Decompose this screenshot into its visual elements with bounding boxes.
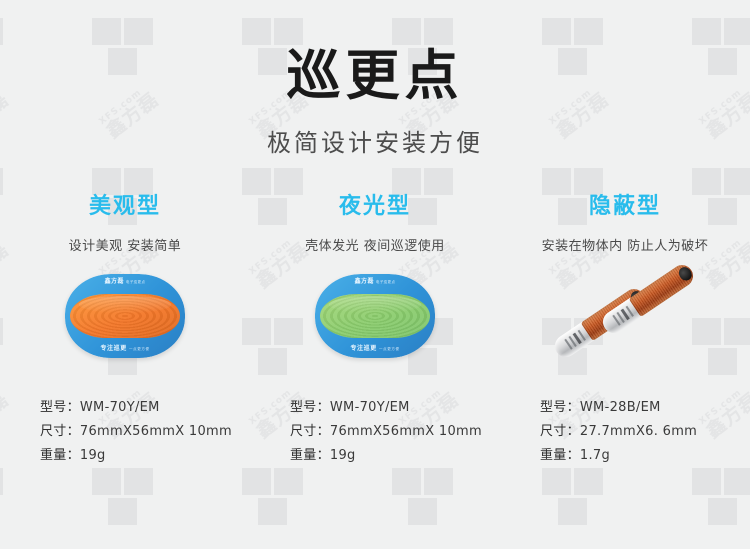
- spec-value: WM-70Y/EM: [80, 400, 160, 415]
- device-brand-sub: 电子巡更点: [126, 280, 146, 284]
- spec-label: 尺寸：: [40, 424, 80, 439]
- spec-label: 重量：: [40, 448, 80, 463]
- spec-label: 尺寸：: [290, 424, 330, 439]
- page-title: 巡更点: [0, 48, 750, 105]
- spec-label: 型号：: [290, 400, 330, 415]
- device-brand-sub: 电子巡更点: [376, 280, 396, 284]
- device-face: [70, 294, 180, 338]
- glass-transponder-tag: [599, 260, 698, 336]
- page-subtitle: 极简设计安装方便: [0, 123, 750, 158]
- device-foot-sub: 一点更方便: [379, 347, 400, 351]
- spec-size: 尺寸：76mmX56mmX 10mm: [40, 420, 250, 444]
- product-columns: 美观型 设计美观 安装简单 鑫方磊 电子巡更点 专注巡更 一点更方便: [0, 196, 750, 468]
- oval-patrol-point: 鑫方磊 电子巡更点 专注巡更 一点更方便: [315, 274, 435, 358]
- device-brand-main: 鑫方磊: [355, 278, 374, 285]
- product-column-concealed: 隐蔽型 安装在物体内 防止人为破坏: [500, 196, 750, 468]
- device-foot-main: 专注巡更: [350, 345, 376, 352]
- spec-size: 尺寸：27.7mmX6. 6mm: [540, 420, 750, 444]
- device-foot-main: 专注巡更: [100, 345, 126, 352]
- device-body: 鑫方磊 电子巡更点 专注巡更 一点更方便: [65, 274, 185, 358]
- spec-value: 27.7mmX6. 6mm: [580, 424, 697, 439]
- column-title: 夜光型: [250, 196, 500, 218]
- column-title: 隐蔽型: [500, 196, 750, 218]
- column-tagline: 安装在物体内 防止人为破坏: [500, 235, 750, 254]
- spec-value: WM-28B/EM: [580, 400, 661, 415]
- device-foot-label: 专注巡更 一点更方便: [315, 344, 435, 354]
- spec-list: 型号：WM-28B/EM 尺寸：27.7mmX6. 6mm 重量：1.7g: [500, 396, 750, 468]
- spec-value: WM-70Y/EM: [330, 400, 410, 415]
- device-face: [320, 294, 430, 338]
- device-brand-main: 鑫方磊: [105, 278, 124, 285]
- spec-value: 19g: [330, 448, 356, 463]
- spec-label: 尺寸：: [540, 424, 580, 439]
- spec-label: 重量：: [540, 448, 580, 463]
- spec-label: 型号：: [40, 400, 80, 415]
- spec-weight: 重量：19g: [290, 444, 500, 468]
- spec-label: 型号：: [540, 400, 580, 415]
- device-foot-sub: 一点更方便: [129, 347, 150, 351]
- product-image-luminous: 鑫方磊 电子巡更点 专注巡更 一点更方便: [250, 266, 500, 378]
- page-header: 巡更点 极简设计安装方便: [0, 0, 750, 158]
- column-title: 美观型: [0, 196, 250, 218]
- oval-patrol-point: 鑫方磊 电子巡更点 专注巡更 一点更方便: [65, 274, 185, 358]
- product-column-luminous: 夜光型 壳体发光 夜间巡逻使用 鑫方磊 电子巡更点 专注巡更 一点更方便: [250, 196, 500, 468]
- spec-model: 型号：WM-28B/EM: [540, 396, 750, 420]
- spec-size: 尺寸：76mmX56mmX 10mm: [290, 420, 500, 444]
- spec-list: 型号：WM-70Y/EM 尺寸：76mmX56mmX 10mm 重量：19g: [0, 396, 250, 468]
- spec-model: 型号：WM-70Y/EM: [40, 396, 250, 420]
- device-brand-label: 鑫方磊 电子巡更点: [65, 278, 185, 287]
- product-page: 巡更点 极简设计安装方便 美观型 设计美观 安装简单 鑫方磊 电子巡更点: [0, 0, 750, 549]
- column-tagline: 设计美观 安装简单: [0, 235, 250, 254]
- spec-weight: 重量：1.7g: [540, 444, 750, 468]
- glass-transponder-pair: [540, 266, 710, 378]
- spec-list: 型号：WM-70Y/EM 尺寸：76mmX56mmX 10mm 重量：19g: [250, 396, 500, 468]
- spec-label: 重量：: [290, 448, 330, 463]
- spec-value: 19g: [80, 448, 106, 463]
- spec-value: 1.7g: [580, 448, 610, 463]
- column-tagline: 壳体发光 夜间巡逻使用: [250, 235, 500, 254]
- spec-weight: 重量：19g: [40, 444, 250, 468]
- device-foot-label: 专注巡更 一点更方便: [65, 344, 185, 354]
- device-brand-label: 鑫方磊 电子巡更点: [315, 278, 435, 287]
- product-column-aesthetic: 美观型 设计美观 安装简单 鑫方磊 电子巡更点 专注巡更 一点更方便: [0, 196, 250, 468]
- spec-model: 型号：WM-70Y/EM: [290, 396, 500, 420]
- spec-value: 76mmX56mmX 10mm: [80, 424, 232, 439]
- product-image-aesthetic: 鑫方磊 电子巡更点 专注巡更 一点更方便: [0, 266, 250, 378]
- spec-value: 76mmX56mmX 10mm: [330, 424, 482, 439]
- device-body: 鑫方磊 电子巡更点 专注巡更 一点更方便: [315, 274, 435, 358]
- product-image-concealed: [500, 266, 750, 378]
